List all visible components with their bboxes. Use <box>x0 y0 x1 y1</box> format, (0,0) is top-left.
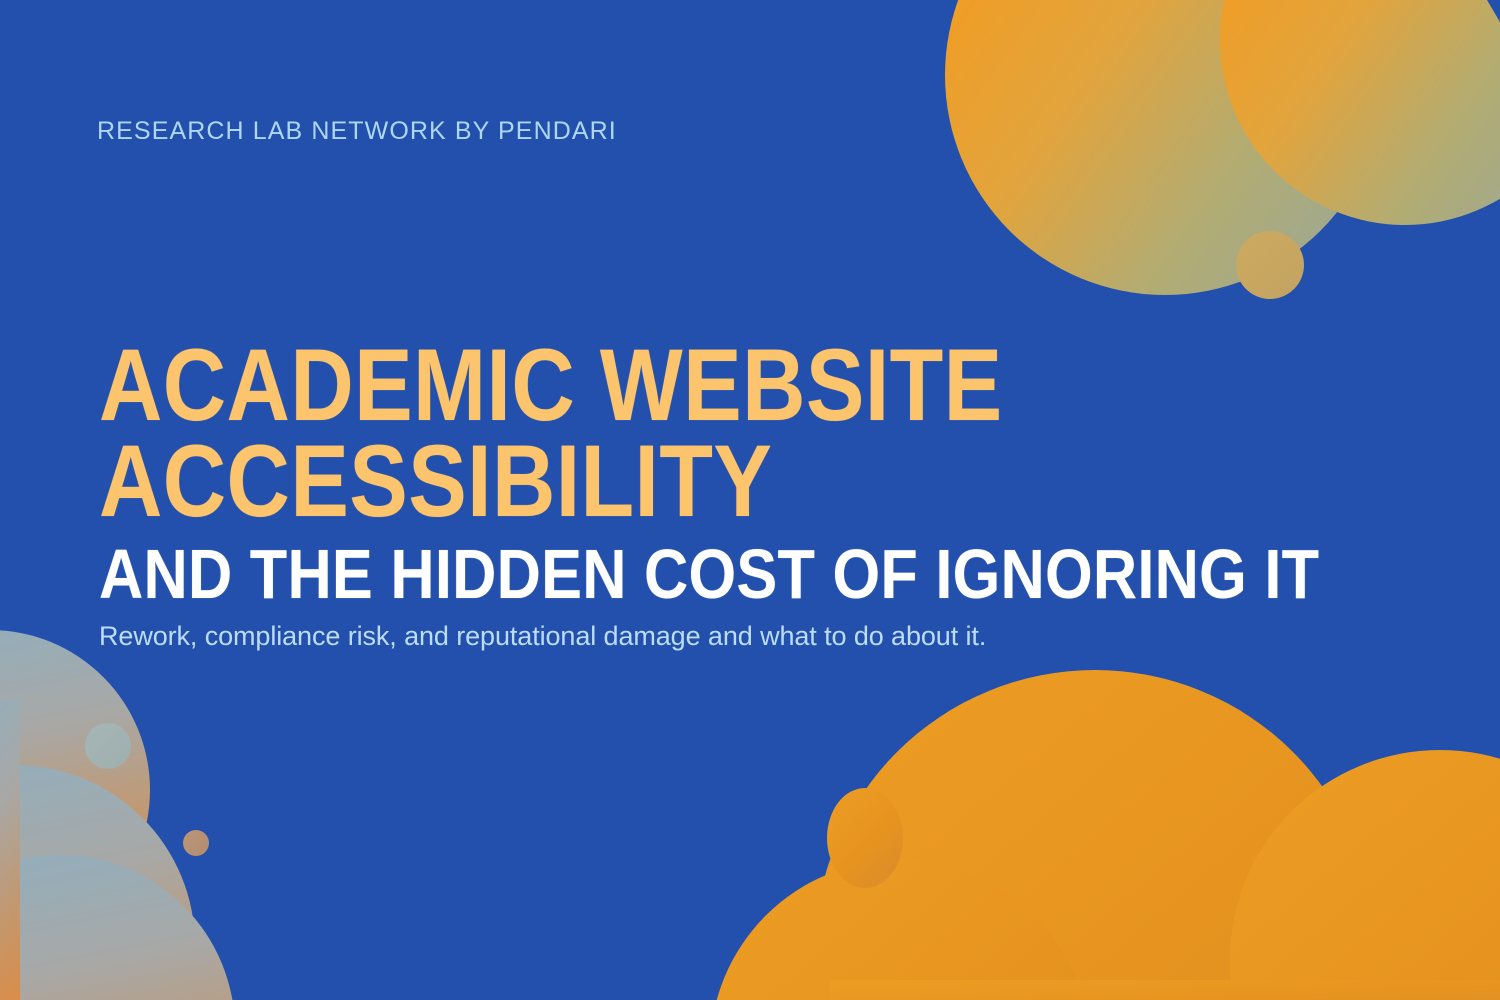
headline-block: ACADEMIC WEBSITE ACCESSIBILITY AND THE H… <box>99 336 1419 609</box>
subtitle-text: Rework, compliance risk, and reputationa… <box>99 620 986 654</box>
poster-content: RESEARCH LAB NETWORK BY PENDARI ACADEMIC… <box>0 0 1500 1000</box>
eyebrow-label: RESEARCH LAB NETWORK BY PENDARI <box>97 118 617 146</box>
headline-primary-line-2: ACCESSIBILITY <box>99 432 1234 532</box>
poster-canvas: RESEARCH LAB NETWORK BY PENDARI ACADEMIC… <box>0 0 1500 1000</box>
headline-secondary-line: AND THE HIDDEN COST OF IGNORING IT <box>99 540 1254 609</box>
headline-primary-line-1: ACADEMIC WEBSITE <box>99 336 1234 436</box>
